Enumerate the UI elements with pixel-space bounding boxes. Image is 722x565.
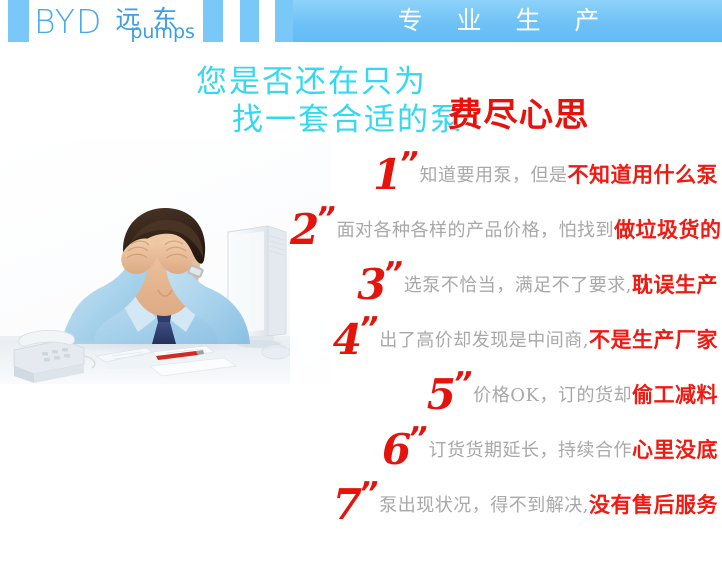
list-item-red-text: 耽误生产 (632, 273, 718, 297)
list-item-gray-text: 订货货期延长，持续合作 (429, 440, 633, 461)
brand-logo: BYD 远东 pumps (34, 2, 215, 44)
list-item: 1”知道要用泵，但是不知道用什么泵 (290, 148, 720, 203)
accent-bar-3 (275, 0, 293, 42)
logo-latin-text: BYD (34, 2, 102, 42)
logo-chinese-group: 远东 pumps (115, 2, 215, 44)
header-banner: 专 业 生 产 (293, 0, 722, 42)
list-item-number: 7 (333, 484, 361, 526)
list-item-number: 5 (427, 374, 455, 416)
list-item-quote-icon: ” (359, 314, 378, 344)
headline-line-2: 找一套合适的泵 (232, 94, 463, 139)
list-item-number: 3 (357, 264, 385, 306)
list-item: 3”选泵不恰当，满足不了要求,耽误生产 (290, 258, 720, 313)
list-item-quote-icon: ” (408, 424, 427, 454)
list-item: 2”面对各种各样的产品价格，怕找到做垃圾货的 (290, 203, 720, 258)
list-item-number: 6 (382, 429, 410, 471)
list-item-quote-icon: ” (359, 479, 378, 509)
list-item-gray-text: 选泵不恰当，满足不了要求, (404, 275, 632, 296)
list-item-quote-icon: ” (453, 369, 472, 399)
header-banner-text: 专 业 生 产 (293, 0, 704, 42)
list-item-gray-text: 出了高价却发现是中间商, (379, 330, 589, 351)
list-item-number: 4 (333, 319, 361, 361)
list-item-number: 2 (290, 209, 318, 251)
list-item: 4”出了高价却发现是中间商,不是生产厂家 (290, 313, 720, 368)
headline-block: 您是否还在只为 找一套合适的泵 费尽心思 (190, 52, 610, 142)
list-item-red-text: 做垃圾货的 (614, 218, 722, 242)
list-item-red-text: 不是生产厂家 (589, 328, 718, 352)
list-item-gray-text: 知道要用泵，但是 (420, 165, 568, 186)
frustrated-businessman-photo (0, 140, 330, 470)
logo-sub-text: pumps (130, 21, 195, 43)
promotional-banner-page: BYD 远东 pumps 专 业 生 产 您是否还在只为 找一套合适的泵 费尽心… (0, 0, 722, 565)
list-item-gray-text: 面对各种各样的产品价格，怕找到 (337, 220, 615, 241)
list-item-red-text: 不知道用什么泵 (568, 163, 719, 187)
page-header: BYD 远东 pumps 专 业 生 产 (0, 0, 722, 46)
list-item-red-text: 心里没底 (632, 438, 718, 462)
list-item-gray-text: 泵出现状况，得不到解决, (379, 495, 589, 516)
list-item-quote-icon: ” (399, 149, 418, 179)
list-item-gray-text: 价格OK，订的货却 (473, 385, 632, 406)
list-item-red-text: 没有售后服务 (589, 493, 718, 517)
list-item: 7”泵出现状况，得不到解决,没有售后服务 (290, 478, 720, 533)
list-item-quote-icon: ” (383, 259, 402, 289)
accent-bar-2 (240, 0, 259, 42)
list-item: 6”订货货期延长，持续合作心里没底 (290, 423, 720, 478)
list-item-quote-icon: ” (316, 204, 335, 234)
headline-stamp-text: 费尽心思 (448, 88, 589, 136)
list-item-red-text: 偷工减料 (632, 383, 718, 407)
accent-bar-left (8, 0, 29, 42)
list-item: 5”价格OK，订的货却偷工减料 (290, 368, 720, 423)
list-item-number: 1 (373, 154, 401, 196)
pain-points-list: 1”知道要用泵，但是不知道用什么泵 2”面对各种各样的产品价格，怕找到做垃圾货的… (290, 148, 720, 533)
